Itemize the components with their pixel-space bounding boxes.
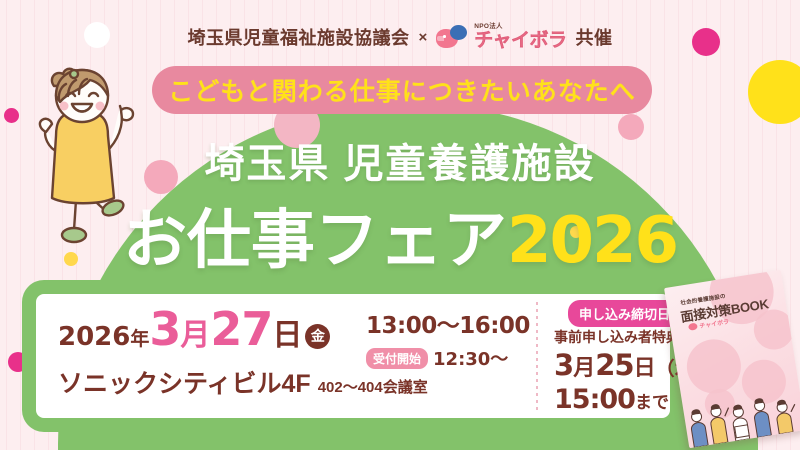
date-month: 3 — [149, 308, 180, 352]
deadline-day: 25 — [595, 348, 633, 382]
organizer-name: 埼玉県児童福祉施設協議会 — [187, 24, 409, 50]
date-month-unit: 月 — [180, 310, 210, 354]
tagline-pill: こどもと関わる仕事につきたいあなたへ — [152, 66, 652, 114]
reception-time: 12:30〜 — [433, 345, 508, 371]
date-year-unit: 年 — [130, 324, 149, 351]
chaibora-logo: NPO法人 チャイボラ — [436, 24, 566, 50]
bonus-label: 事前申し込み者特典 — [554, 327, 680, 347]
event-poster: 埼玉県児童福祉施設協議会 × NPO法人 チャイボラ 共催 — [0, 0, 800, 450]
interview-book-image: 社会的養護施設の 面接対策BOOK チャイボラ — [664, 270, 800, 448]
deadline-time-suffix: まで — [635, 388, 669, 413]
event-title-main: お仕事フェア — [123, 204, 507, 276]
deadline-time: 15:00 — [554, 384, 635, 415]
event-time: 13:00〜16:00 — [366, 306, 526, 340]
girl-illustration — [18, 48, 148, 258]
info-card-left: 2026年3月27日金 13:00〜16:00 受付開始 12:30〜 ソニック… — [36, 294, 520, 418]
event-venue: ソニックシティビル4F 402〜404会議室 — [58, 364, 428, 400]
logo-text-block: NPO法人 チャイボラ — [474, 24, 566, 50]
bird-eye-shape — [443, 35, 446, 38]
logo-brand-name: チャイボラ — [474, 31, 566, 50]
date-day: 27 — [210, 308, 272, 352]
venue-room: 402〜404会議室 — [318, 376, 428, 397]
event-date: 2026年3月27日金 — [58, 308, 330, 354]
deadline-month-unit: 月 — [573, 350, 595, 382]
bird-head-shape — [450, 25, 467, 40]
decoration-dot-magenta — [4, 108, 19, 123]
book-people-svg — [683, 388, 800, 448]
info-card: 2026年3月27日金 13:00〜16:00 受付開始 12:30〜 ソニック… — [36, 294, 670, 418]
book-people-illustration — [683, 388, 800, 448]
date-day-unit: 日 — [272, 310, 302, 354]
header-bar: 埼玉県児童福祉施設協議会 × NPO法人 チャイボラ 共催 — [0, 20, 800, 54]
venue-building: ソニックシティビル4F — [58, 364, 311, 400]
book-logo-bird-icon — [688, 323, 698, 331]
day-of-week-badge: 金 — [305, 324, 330, 349]
deadline-month: 3 — [554, 348, 573, 382]
date-year: 2026 — [58, 322, 130, 352]
event-time-block: 13:00〜16:00 受付開始 12:30〜 — [366, 306, 526, 371]
tagline-text: こどもと関わる仕事につきたいあなたへ — [168, 72, 636, 108]
deadline-time-row: 15:00まで — [554, 384, 669, 415]
book-circle — [683, 336, 745, 398]
deadline-day-unit: 日 — [634, 350, 656, 382]
cohost-label: 共催 — [576, 24, 613, 50]
card-divider — [536, 302, 538, 410]
decoration-dot-yellow — [748, 60, 800, 124]
bird-icon — [436, 25, 470, 49]
event-title-year: 2026 — [507, 204, 677, 278]
separator-x: × — [418, 29, 427, 46]
girl-svg — [18, 48, 148, 258]
